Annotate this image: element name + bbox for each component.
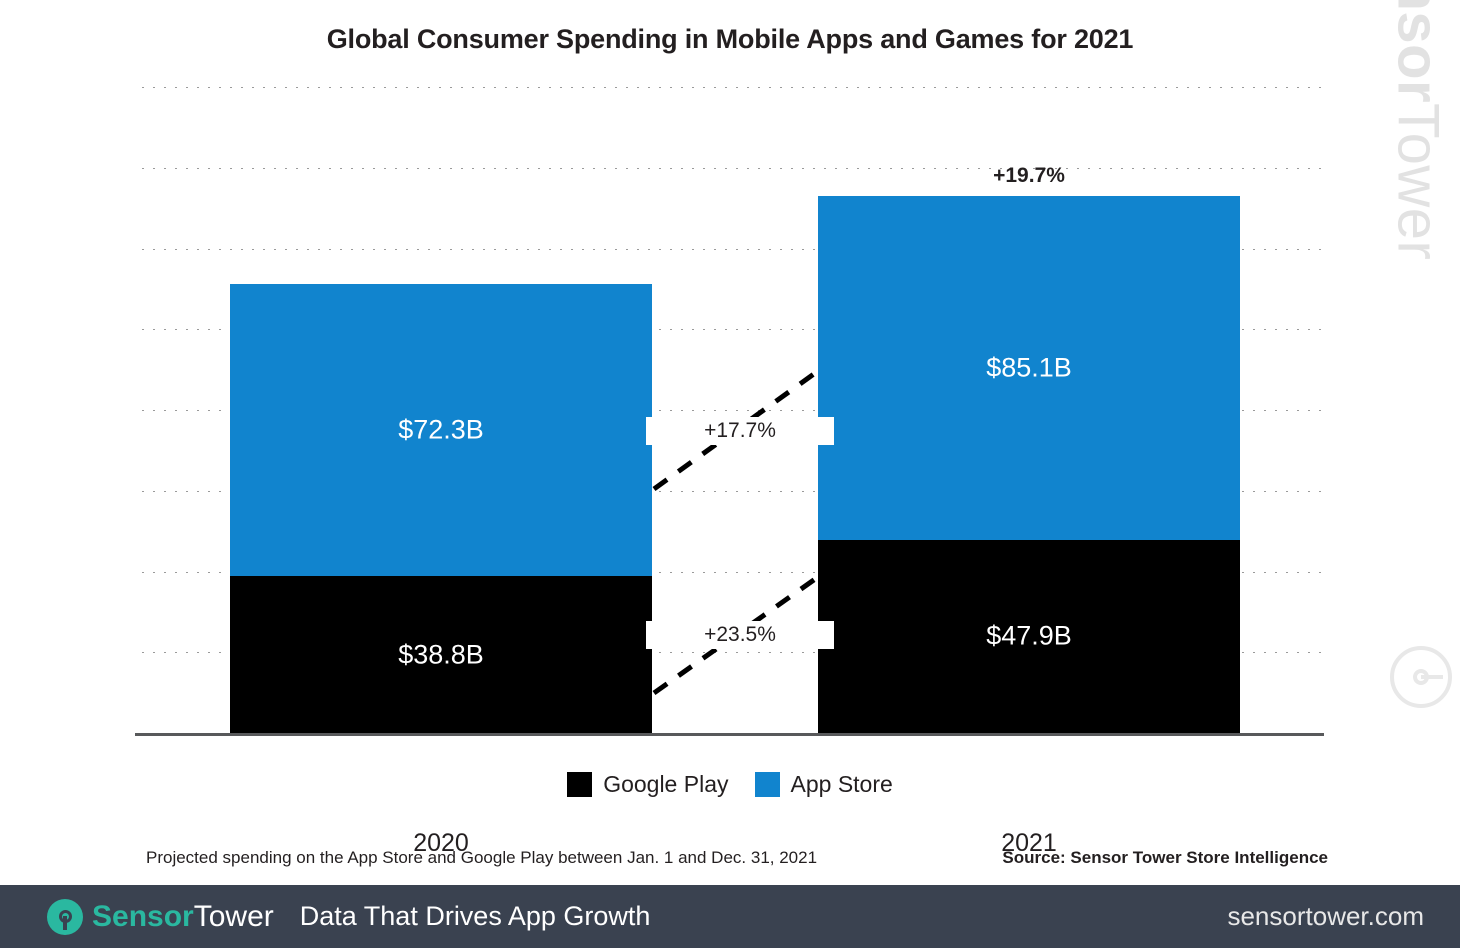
legend-label-app-store: App Store <box>791 771 893 798</box>
footnote-left: Projected spending on the App Store and … <box>146 848 817 868</box>
legend-item-app-store[interactable]: App Store <box>755 771 893 798</box>
banner-brand-bold: Sensor <box>92 900 194 933</box>
x-axis-line <box>135 733 1324 736</box>
sensor-tower-logo-icon <box>47 899 83 935</box>
watermark-brand: SensorTower <box>1385 0 1452 444</box>
legend-item-google-play[interactable]: Google Play <box>567 771 728 798</box>
sensor-tower-logo-icon <box>1390 646 1452 708</box>
plot-area: $0$20B$40B$60B$80B$100B$120B$140B$160B$7… <box>142 87 1324 733</box>
footnote-source: Source: Sensor Tower Store Intelligence <box>1002 848 1328 868</box>
chart-legend: Google Play App Store <box>0 771 1460 798</box>
legend-swatch-app-store <box>755 772 780 797</box>
legend-swatch-google-play <box>567 772 592 797</box>
bottom-banner: SensorTower Data That Drives App Growth … <box>0 885 1460 948</box>
watermark-brand-light: Tower <box>1386 103 1451 260</box>
watermark: SensorTower <box>1386 140 1456 700</box>
annotation-app-store-growth: +17.7% <box>646 417 834 445</box>
banner-brand: SensorTower <box>92 900 274 934</box>
chart-title: Global Consumer Spending in Mobile Apps … <box>0 24 1460 55</box>
chart-canvas: Global Consumer Spending in Mobile Apps … <box>0 0 1460 948</box>
annotation-google-play-growth: +23.5% <box>646 621 834 649</box>
banner-url[interactable]: sensortower.com <box>1227 901 1424 932</box>
legend-label-google-play: Google Play <box>603 771 728 798</box>
banner-tagline: Data That Drives App Growth <box>300 901 651 932</box>
banner-brand-light: Tower <box>194 900 274 933</box>
